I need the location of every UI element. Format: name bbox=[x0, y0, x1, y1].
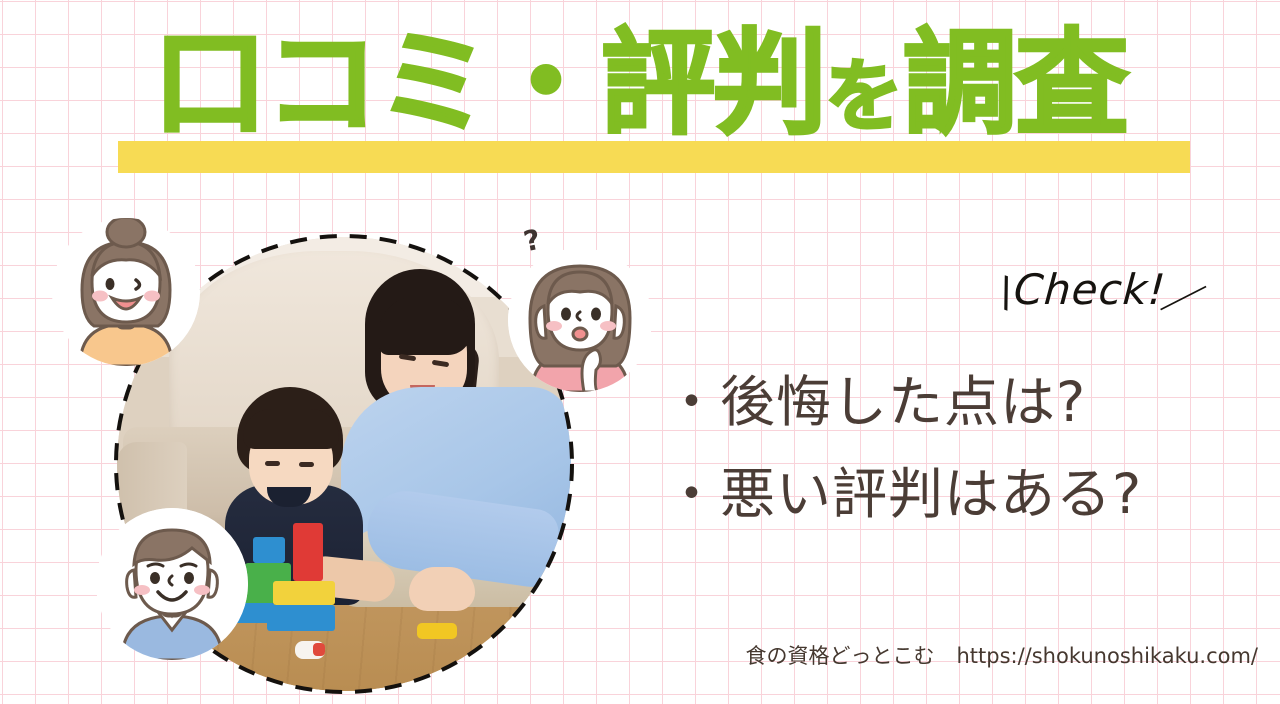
footer-site-name: 食の資格どっとこむ bbox=[745, 644, 934, 668]
page-title-part-1: 口コミ・評判 bbox=[153, 17, 825, 150]
footer-url[interactable]: https://shokunoshikaku.com/ bbox=[956, 644, 1258, 668]
footer: 食の資格どっとこむhttps://shokunoshikaku.com/ bbox=[0, 640, 1258, 670]
page-title-part-2: 調査 bbox=[903, 17, 1127, 150]
check-badge: \Check!／ bbox=[1000, 258, 1210, 328]
bullet-list: ・後悔した点は? ・悪い評判はある? bbox=[664, 356, 1264, 540]
title-block: 口コミ・評判を調査 bbox=[0, 0, 1280, 190]
check-label: Check! bbox=[1013, 265, 1168, 314]
poster-canvas: 口コミ・評判を調査 bbox=[0, 0, 1280, 704]
bullet-item-2: ・悪い評判はある? bbox=[664, 448, 1264, 540]
avatar-man-smiling-art bbox=[96, 508, 248, 660]
avatar-woman-winking bbox=[52, 218, 200, 366]
page-title-particle: を bbox=[825, 52, 903, 142]
bullet-item-1: ・後悔した点は? bbox=[664, 356, 1264, 448]
avatar-man-smiling bbox=[96, 508, 248, 660]
avatar-woman-thinking bbox=[508, 248, 652, 392]
avatar-woman-thinking-art bbox=[508, 248, 652, 392]
avatar-woman-winking-art bbox=[52, 218, 200, 366]
page-title: 口コミ・評判を調査 bbox=[0, 14, 1280, 167]
